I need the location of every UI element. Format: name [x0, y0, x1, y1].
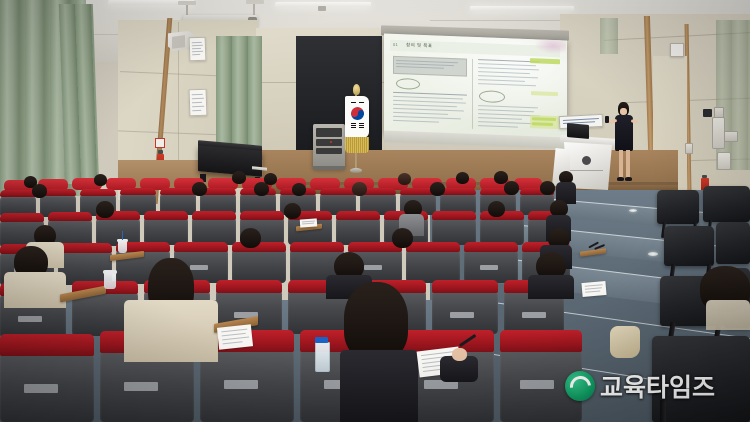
- attendee-head: [344, 282, 408, 360]
- paper-cup: [104, 273, 116, 289]
- paper-cup: [118, 241, 127, 253]
- wall-notice: [189, 89, 208, 117]
- notebook: [300, 218, 318, 227]
- attendee-head: [32, 184, 47, 198]
- attendee-head: [488, 201, 505, 217]
- attendee-head: [96, 201, 114, 218]
- attendee-body: [124, 300, 218, 362]
- wall-outlet[interactable]: [685, 143, 693, 154]
- presenter-leg: [626, 150, 630, 178]
- auditorium-seat-back[interactable]: [144, 217, 188, 245]
- presenter-microphone: [605, 116, 609, 123]
- empty-seat[interactable]: [716, 222, 750, 264]
- presenter-shoe: [625, 177, 632, 181]
- flag-stand: [350, 168, 362, 173]
- attendee-body: [340, 350, 418, 422]
- auditorium-seat-back[interactable]: [192, 217, 236, 245]
- bottle-cap: [315, 337, 328, 343]
- watermark-text: 교육타임즈: [600, 368, 715, 404]
- notebook: [217, 324, 253, 349]
- attendee-head: [192, 182, 207, 196]
- empty-seat[interactable]: [657, 190, 699, 224]
- empty-seat[interactable]: [664, 226, 714, 266]
- wall-control-panel[interactable]: [703, 109, 712, 117]
- ceiling-light: [470, 6, 574, 11]
- auditorium-seat-back[interactable]: [480, 217, 524, 245]
- presenter-shoe: [617, 177, 624, 181]
- wall-sign: [724, 131, 738, 142]
- attendee-head: [240, 228, 261, 248]
- fire-sign: [155, 138, 165, 148]
- attendee-head: [292, 183, 306, 196]
- flag-finial: [353, 84, 360, 95]
- water-bottle: [315, 342, 330, 372]
- auditorium-seat-back[interactable]: [336, 217, 380, 245]
- attendee-head: [398, 173, 411, 185]
- watermark: 교육타임즈: [565, 368, 715, 404]
- attendee-head: [456, 172, 469, 184]
- attendee-head: [392, 228, 413, 248]
- attendee-head: [540, 181, 555, 195]
- slide-callout: [530, 115, 559, 129]
- notebook: [581, 281, 606, 297]
- slide-title: 창의 및 목표: [406, 42, 432, 49]
- attendee-head: [94, 174, 107, 186]
- lectern-speaker-grille: [582, 156, 591, 165]
- auditorium-seat-back[interactable]: [432, 217, 476, 245]
- presenter-leg: [619, 150, 623, 178]
- attendee-body: [706, 300, 750, 330]
- lecture-hall-photo: 01 창의 및 목표: [0, 0, 750, 422]
- empty-seat[interactable]: [703, 186, 750, 222]
- upright-piano: [198, 145, 262, 177]
- projection-screen: 01 창의 및 목표: [384, 33, 567, 140]
- attendee-head: [284, 203, 301, 219]
- attendee-head: [430, 182, 445, 196]
- south-korean-flag-taegukgi: [345, 96, 369, 138]
- presenter-face: [620, 108, 627, 115]
- window-curtain: [600, 18, 618, 54]
- attendee-body: [4, 272, 66, 308]
- attendee-head: [504, 181, 519, 195]
- attendee-hand: [452, 348, 467, 361]
- auditorium-seat-back[interactable]: [232, 249, 286, 283]
- flag-fringe: [345, 137, 369, 153]
- bag-on-seat: [610, 326, 640, 358]
- wall-notice: [670, 43, 684, 57]
- attendee-head: [232, 171, 246, 184]
- floor-step-light: [648, 252, 658, 256]
- attendee-body: [528, 275, 574, 299]
- slide-number: 01: [393, 42, 398, 47]
- wall-handset[interactable]: [717, 152, 731, 170]
- attendee-head: [254, 182, 269, 196]
- attendee-head: [352, 182, 367, 196]
- auditorium-seat-back[interactable]: [406, 249, 460, 283]
- green-swirl-logo: [565, 371, 595, 401]
- lectern-monitor: [567, 123, 589, 139]
- window-curtain: [59, 4, 99, 184]
- taegeuk-symbol: [351, 107, 364, 120]
- wall-notice: [189, 37, 207, 62]
- floor-step-light: [629, 209, 637, 212]
